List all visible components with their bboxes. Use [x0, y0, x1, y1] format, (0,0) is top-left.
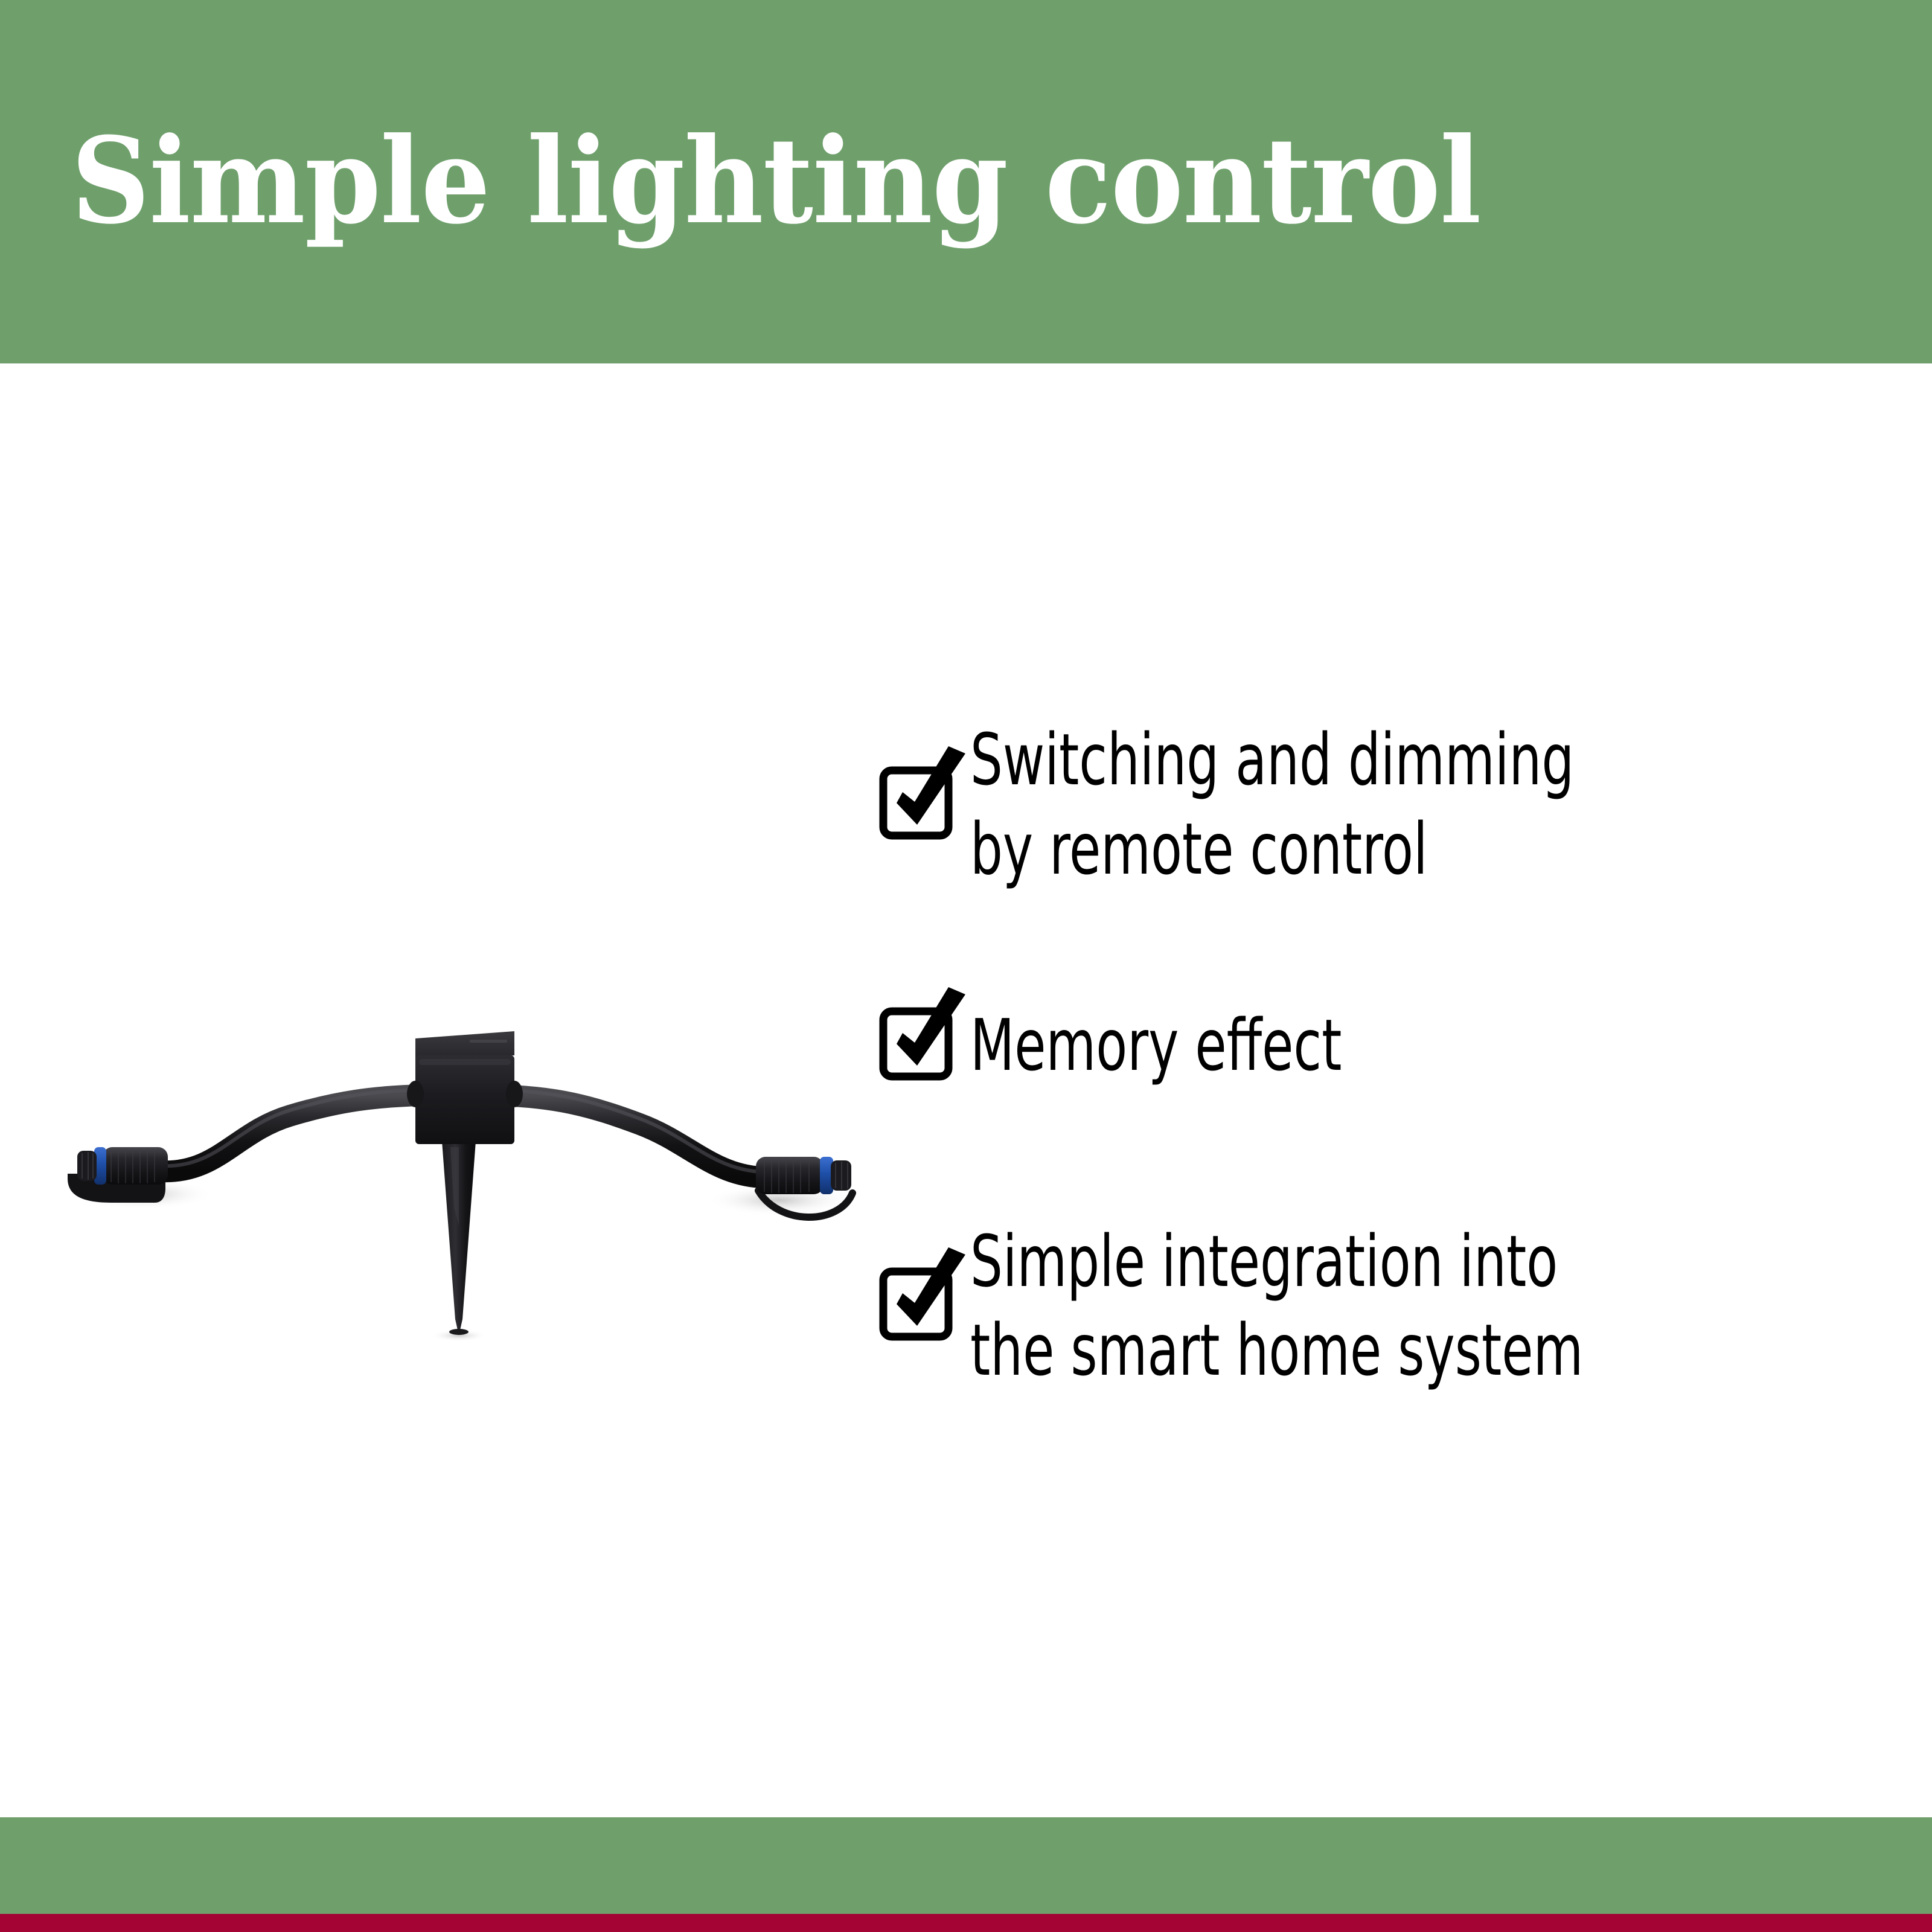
feature-item: Memory effect [878, 1001, 1857, 1090]
feature-item-line: the smart home system [970, 1306, 1679, 1395]
checkbox-checked-icon [878, 1267, 957, 1345]
feature-item-line: Switching and dimming [970, 715, 1679, 805]
feature-item-line: Simple integration into [970, 1217, 1679, 1307]
product-illustration [36, 966, 881, 1389]
feature-item-line: Memory effect [970, 1001, 1679, 1090]
feature-item-label: Switching and dimming by remote control [970, 715, 1679, 894]
marketing-slide: Simple lighting control [0, 0, 1932, 1932]
feature-item-line: by remote control [970, 805, 1679, 894]
footer-band-green [0, 1817, 1932, 1914]
checkbox-checked-icon [878, 1006, 957, 1085]
header-band: Simple lighting control [0, 0, 1932, 363]
feature-list: Switching and dimming by remote control … [878, 715, 1857, 1395]
feature-item: Switching and dimming by remote control [878, 715, 1857, 894]
feature-item-label: Memory effect [970, 1001, 1679, 1090]
product-image [36, 966, 881, 1389]
footer-band-red [0, 1914, 1932, 1932]
feature-item-label: Simple integration into the smart home s… [970, 1217, 1679, 1395]
feature-item: Simple integration into the smart home s… [878, 1217, 1857, 1395]
checkbox-checked-icon [878, 766, 957, 844]
page-title: Simple lighting control [71, 120, 1481, 244]
